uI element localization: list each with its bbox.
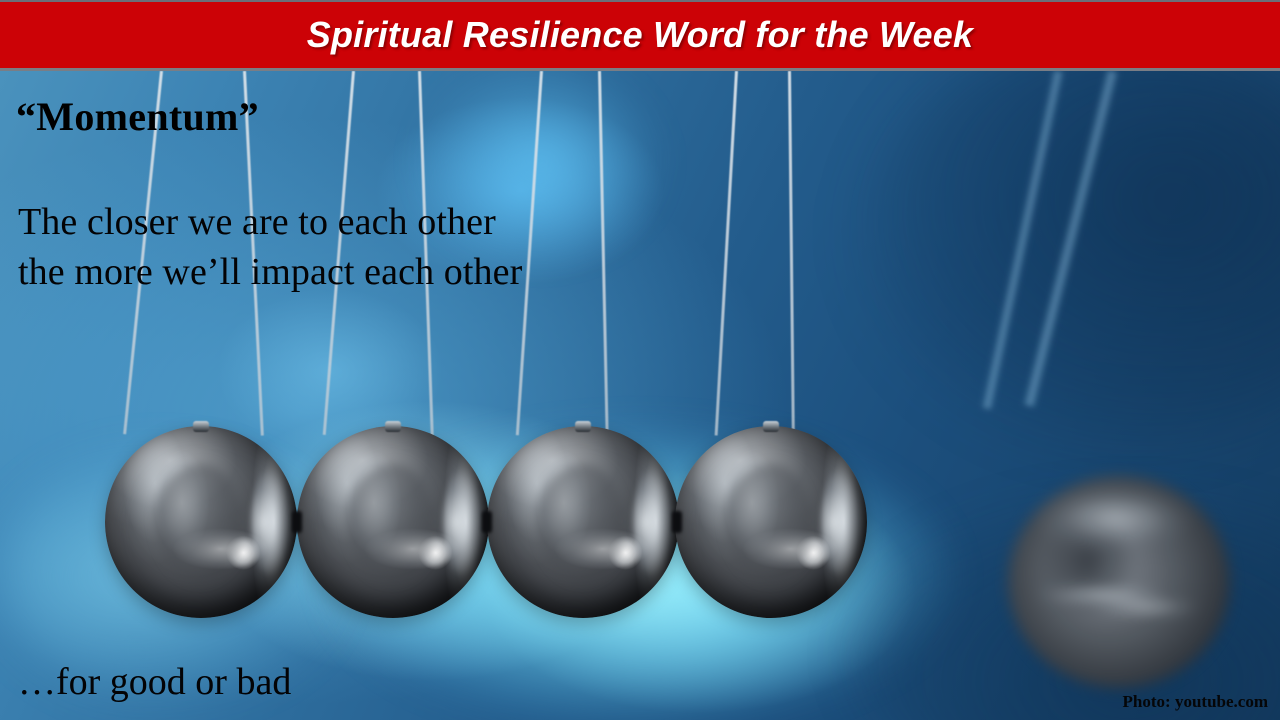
swinging-ball-wire-blur [1022, 71, 1120, 408]
ball-reflection [725, 464, 813, 583]
cradle-wire [788, 71, 795, 436]
cradle-ball [675, 426, 867, 618]
ball-reflection [347, 464, 435, 583]
cradle-wire [715, 71, 738, 436]
cradle-ball [487, 426, 679, 618]
ball-clamp [193, 421, 209, 432]
body-text-line-1: The closer we are to each other [18, 200, 496, 244]
ball-contact-point [672, 511, 682, 533]
ball-clamp [575, 421, 591, 432]
closing-text: …for good or bad [18, 660, 291, 704]
ball-clamp [763, 421, 779, 432]
word-of-the-week: “Momentum” [16, 93, 259, 140]
ball-highlight [443, 468, 485, 576]
swinging-ball-wire-blur [980, 71, 1064, 410]
page-title: Spiritual Resilience Word for the Week [307, 14, 973, 56]
ball-highlight [251, 468, 293, 576]
ball-contact-point [292, 511, 302, 533]
photo-credit: Photo: youtube.com [1123, 692, 1268, 712]
ball-highlight [821, 468, 863, 576]
body-text-line-2: the more we’ll impact each other [18, 250, 522, 294]
cradle-wire [598, 71, 609, 436]
cradle-ball [297, 426, 489, 618]
ball-reflection [155, 464, 243, 583]
title-banner: Spiritual Resilience Word for the Week [0, 0, 1280, 71]
background-photo [0, 71, 1280, 720]
ball-clamp [385, 421, 401, 432]
ball-reflection [537, 464, 625, 583]
swinging-cradle-ball [1008, 476, 1230, 688]
cradle-ball [105, 426, 297, 618]
ball-highlight [633, 468, 675, 576]
ball-contact-point [482, 511, 492, 533]
slide-canvas: Spiritual Resilience Word for the Week [0, 0, 1280, 720]
